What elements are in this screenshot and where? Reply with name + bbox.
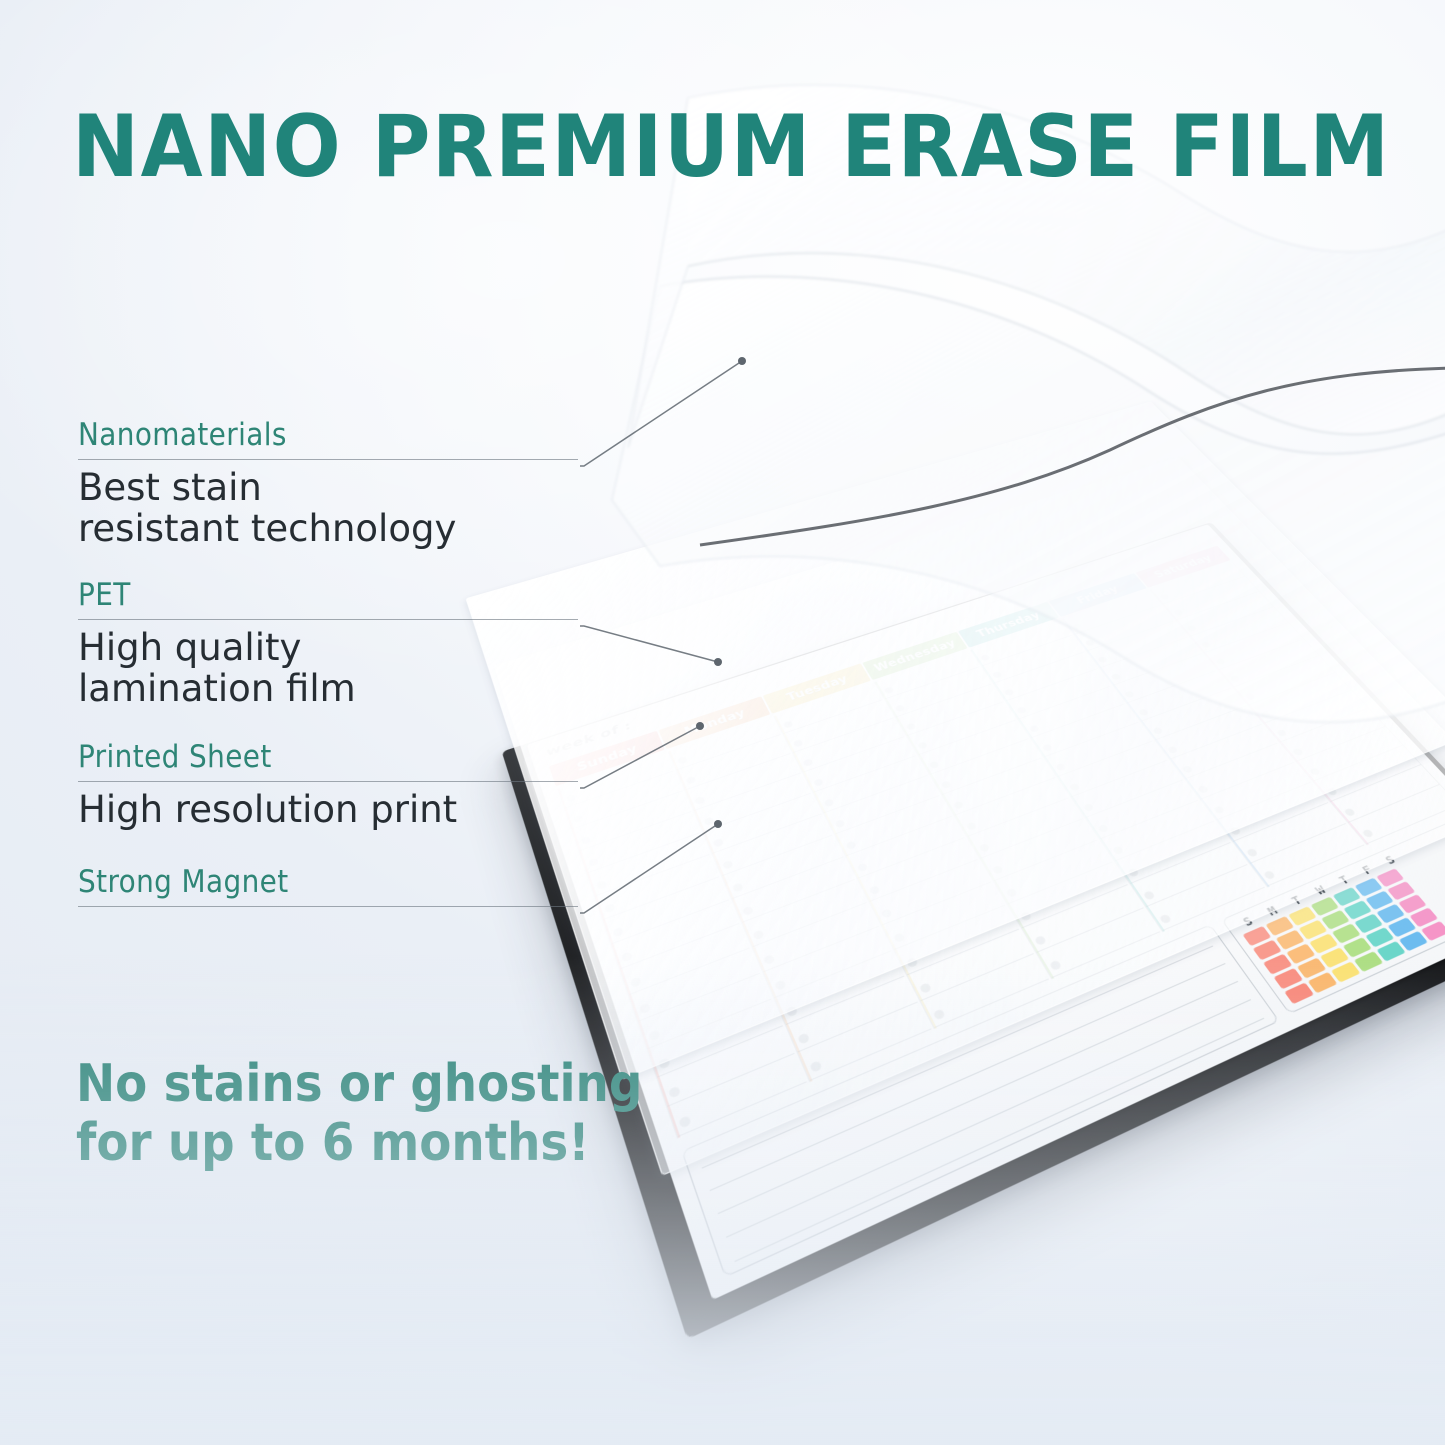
feature-block-nanomaterials: Nanomaterials Best stain resistant techn… bbox=[78, 418, 578, 550]
feature-block-pet: PET High quality lamination film bbox=[78, 578, 578, 710]
feature-kicker: Strong Magnet bbox=[78, 865, 578, 901]
feature-body: Best stain resistant technology bbox=[78, 467, 578, 550]
feature-rule bbox=[78, 906, 578, 907]
feature-rule bbox=[78, 781, 578, 782]
feature-body: High resolution print bbox=[78, 789, 578, 830]
feature-block-printed-sheet: Printed Sheet High resolution print bbox=[78, 740, 578, 830]
feature-rule bbox=[78, 459, 578, 460]
feature-block-strong-magnet: Strong Magnet bbox=[78, 865, 578, 907]
feature-kicker: Printed Sheet bbox=[78, 740, 578, 776]
feature-body: High quality lamination film bbox=[78, 627, 578, 710]
background-fade-bottom bbox=[0, 954, 1445, 1445]
infographic-canvas: week of : SundayMondayTuesdayWednesdayTh… bbox=[0, 0, 1445, 1445]
feature-kicker: PET bbox=[78, 578, 578, 614]
feature-rule bbox=[78, 619, 578, 620]
feature-kicker: Nanomaterials bbox=[78, 418, 578, 454]
page-title: NANO PREMIUM ERASE FILM bbox=[72, 104, 1438, 190]
